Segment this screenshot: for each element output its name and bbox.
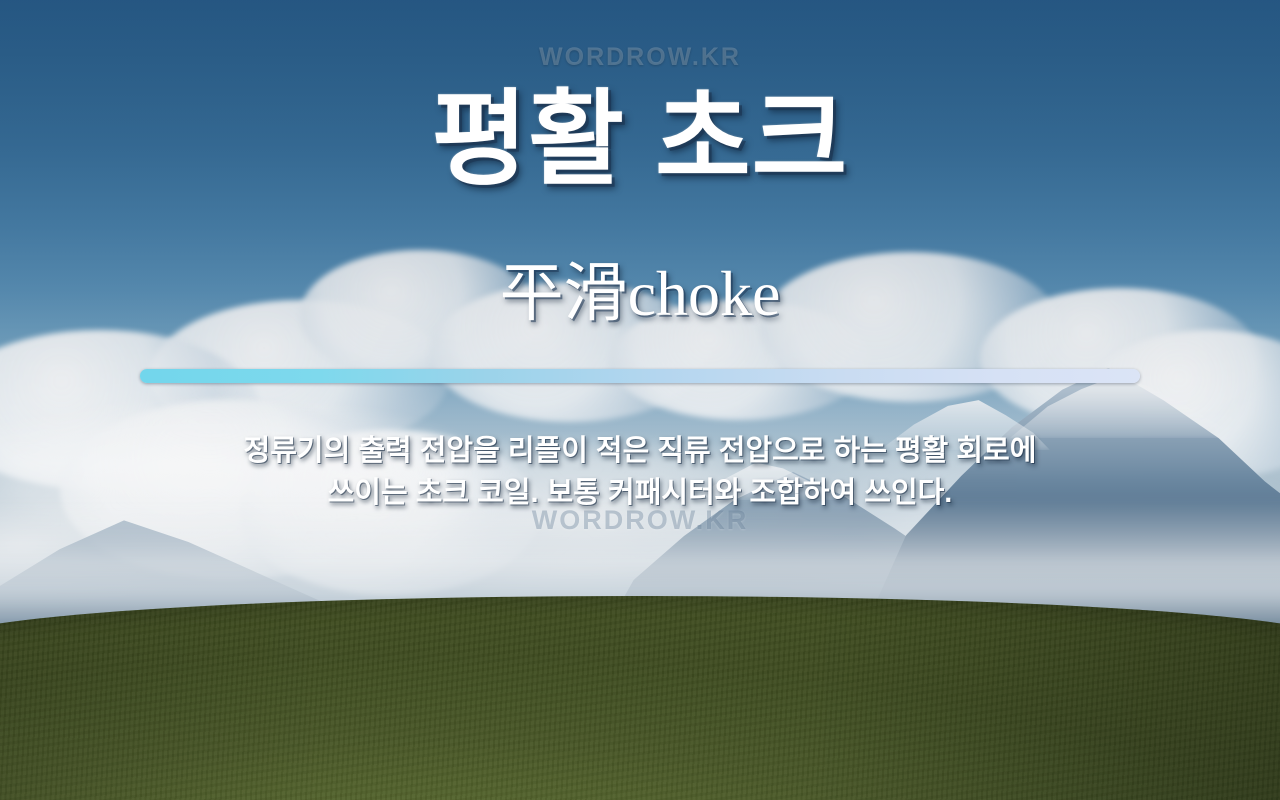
definition-line-2: 쓰이는 초크 코일. 보통 커패시터와 조합하여 쓰인다. bbox=[140, 472, 1140, 514]
word-reading-subtitle: 平滑choke bbox=[0, 258, 1280, 331]
gradient-divider-bar bbox=[140, 369, 1140, 383]
word-definition: 정류기의 출력 전압을 리플이 적은 직류 전압으로 하는 평활 회로에 쓰이는… bbox=[140, 430, 1140, 514]
word-card: WORDROW.KR WORDROW.KR 평활 초크 平滑choke 정류기의… bbox=[0, 0, 1280, 800]
word-title: 평활 초크 bbox=[0, 82, 1280, 198]
card-content: 평활 초크 平滑choke 정류기의 출력 전압을 리플이 적은 직류 전압으로… bbox=[0, 0, 1280, 800]
definition-line-1: 정류기의 출력 전압을 리플이 적은 직류 전압으로 하는 평활 회로에 bbox=[140, 430, 1140, 472]
